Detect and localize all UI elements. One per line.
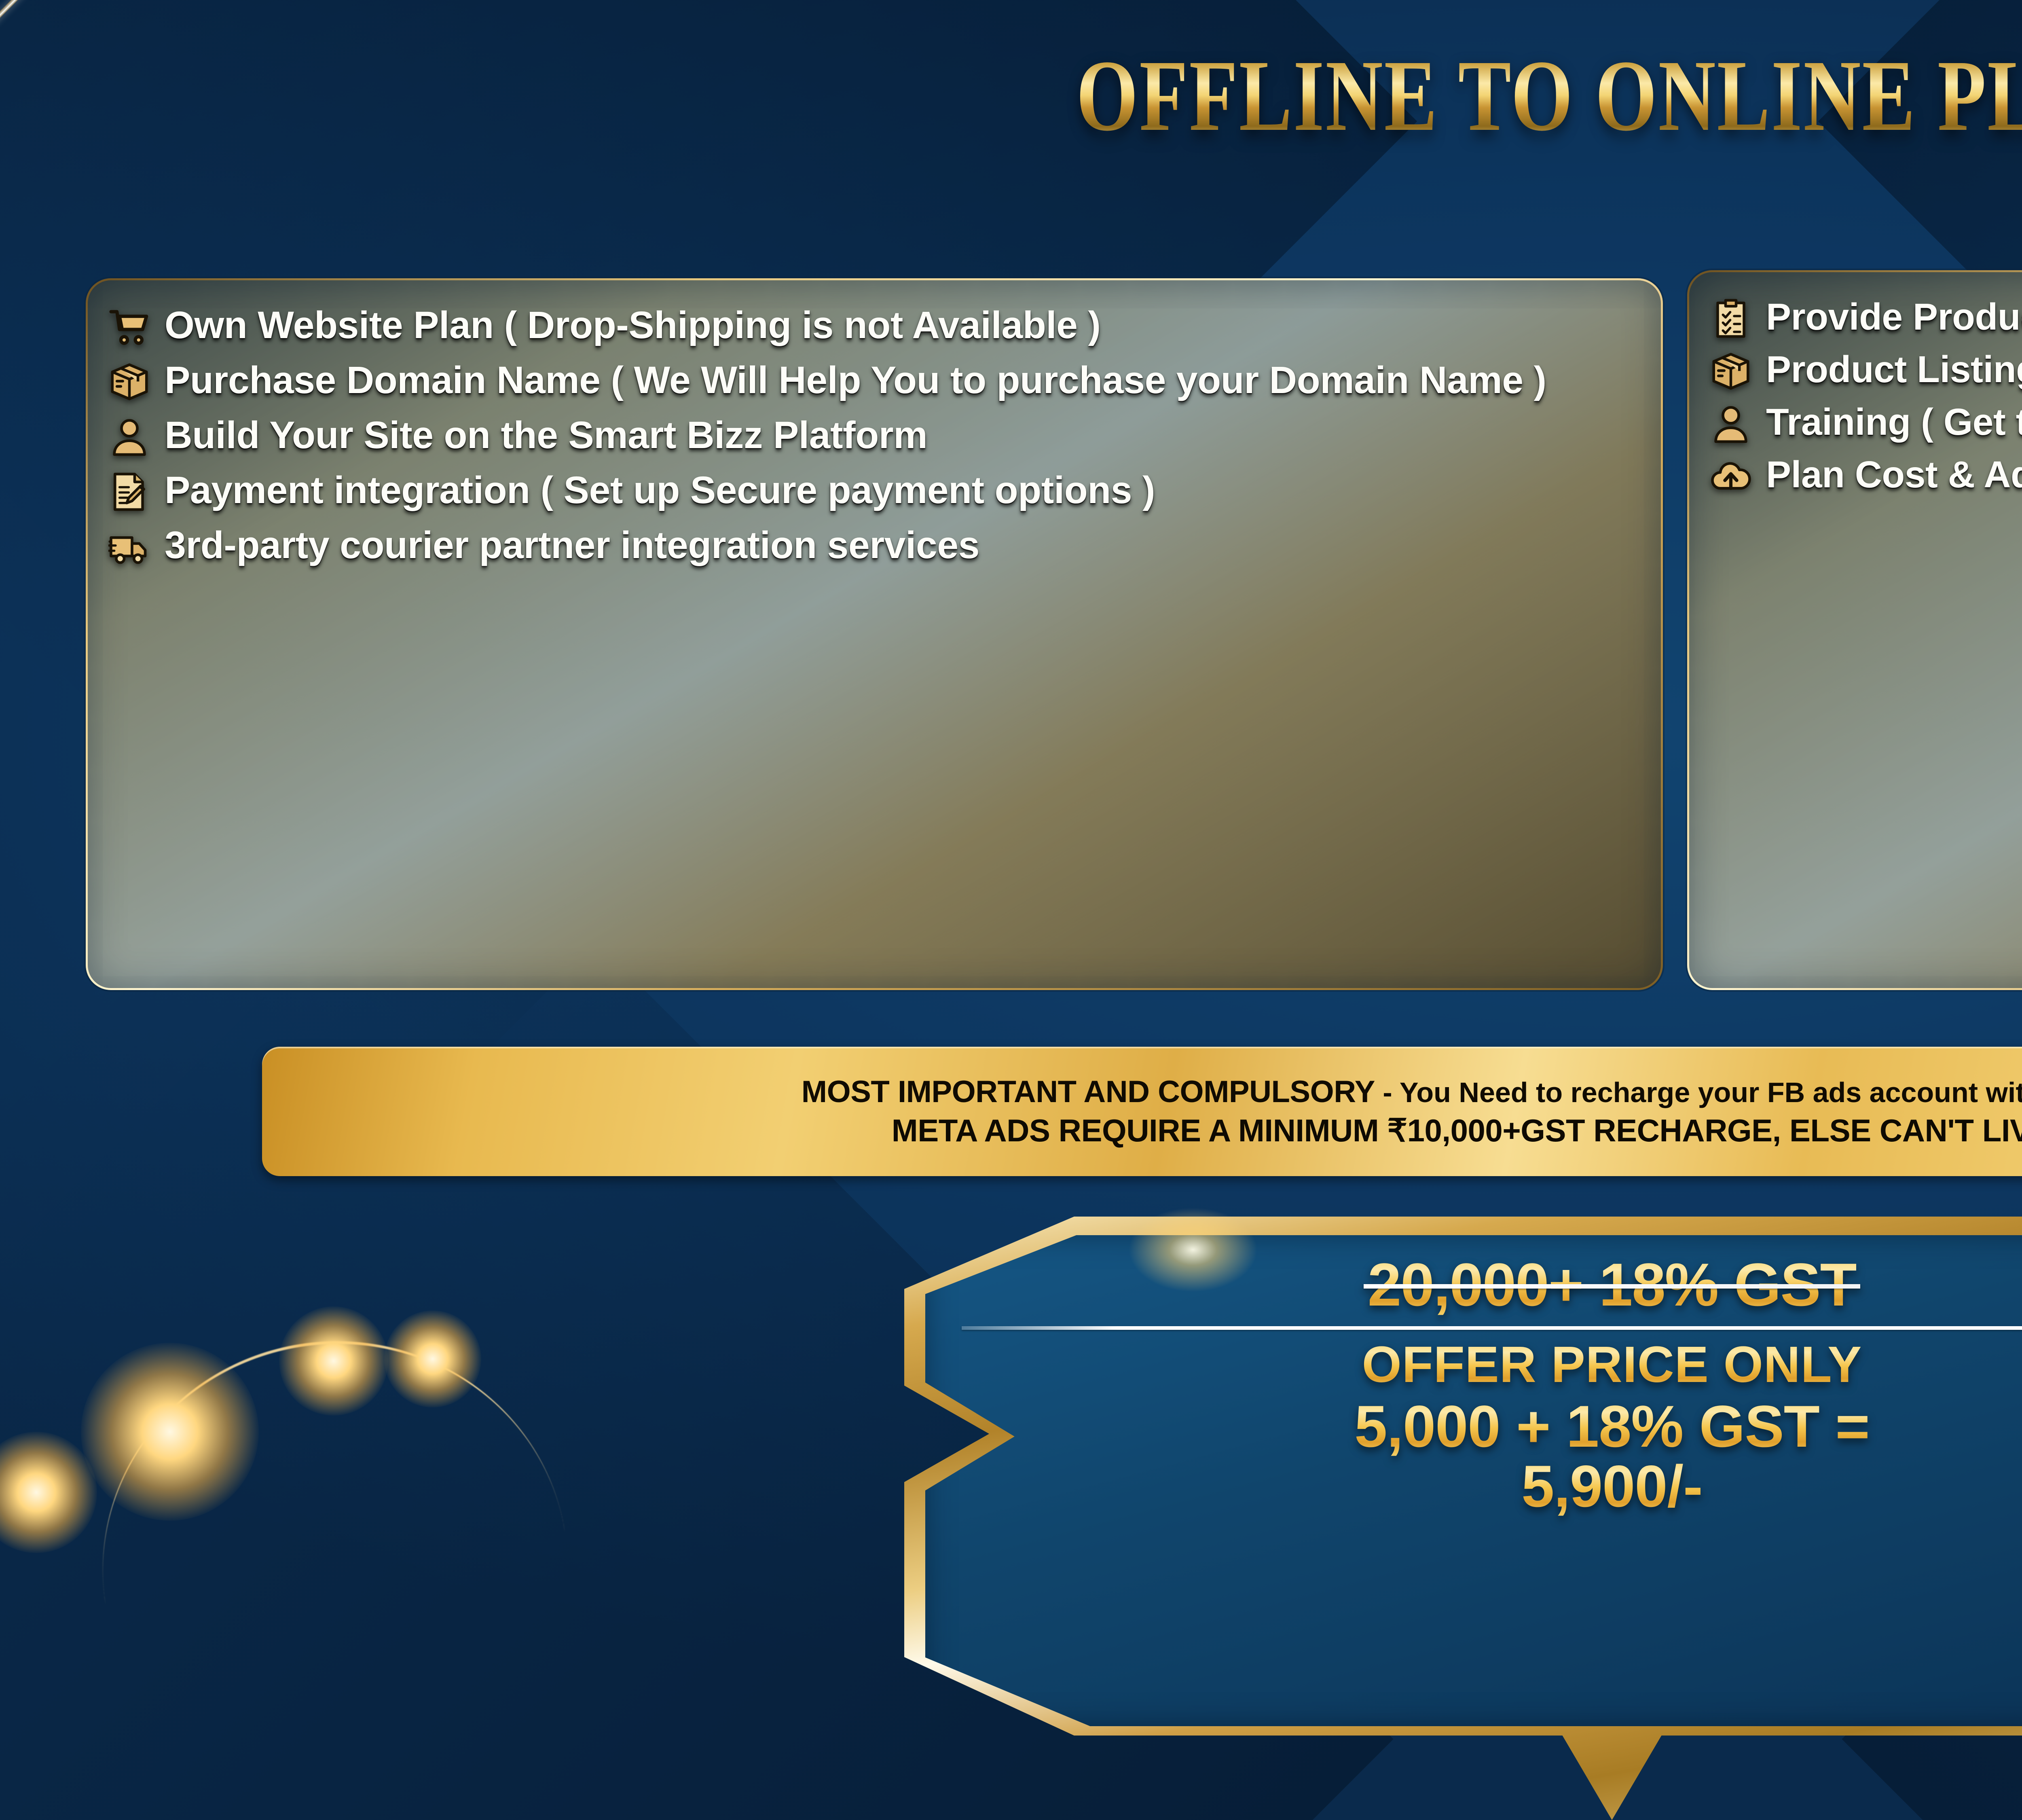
notice-emphasis: MOST IMPORTANT AND COMPULSORY: [802, 1075, 1375, 1109]
offer-label: OFFER PRICE ONLY: [1362, 1339, 1862, 1391]
right-feature-list: Provide Product Info ( Client provides p…: [1709, 295, 2022, 505]
gold-stripes-bottom-left: [0, 1254, 768, 1820]
package-box-icon: [1709, 349, 1753, 394]
list-item-label: Purchase Domain Name ( We Will Help You …: [165, 358, 1546, 403]
offer-price-formula: 5,000 + 18% GST =: [1354, 1397, 1869, 1457]
list-item: Provide Product Info ( Client provides p…: [1709, 295, 2022, 341]
offer-price-total: 5,900/-: [1521, 1456, 1703, 1517]
clipboard-checklist-icon: [1709, 296, 1753, 341]
price-divider: [962, 1326, 2022, 1330]
shopping-cart-icon: [107, 305, 152, 349]
list-item-label: Product Listing ( We will List 20 produc…: [1766, 347, 2022, 392]
list-item-label: 3rd-party courier partner integration se…: [165, 523, 979, 568]
list-item-label: Provide Product Info ( Client provides p…: [1766, 295, 2022, 339]
price-badge-body: 20,000+ 18% GST OFFER PRICE ONLY 5,000 +…: [925, 1235, 2022, 1726]
package-box-icon: [107, 360, 152, 404]
user-person-icon: [107, 415, 152, 459]
notice-detail: - You Need to recharge your FB ads accou…: [1375, 1077, 2022, 1108]
important-notice-banner: MOST IMPORTANT AND COMPULSORY - You Need…: [262, 1047, 2022, 1176]
cloud-upload-icon: [1709, 454, 1753, 499]
list-item-label: Plan Cost & Ads ( 5,000+ tax ( Plan Fee …: [1766, 453, 2022, 497]
notice-line-2: META ADS REQUIRE A MINIMUM ₹10,000+GST R…: [892, 1113, 2022, 1148]
list-item-label: Build Your Site on the Smart Bizz Platfo…: [165, 413, 927, 458]
list-item-label: Training ( Get training for adding more …: [1766, 400, 2022, 444]
list-item: 3rd-party courier partner integration se…: [107, 523, 1645, 569]
delivery-truck-icon: [107, 525, 152, 569]
page-title: OFFLINE TO ONLINE PLAN: [356, 44, 2022, 146]
original-price: 20,000+ 18% GST: [1368, 1254, 1856, 1316]
left-feature-panel: Own Website Plan ( Drop-Shipping is not …: [86, 278, 1663, 990]
left-feature-list: Own Website Plan ( Drop-Shipping is not …: [107, 303, 1645, 569]
right-feature-panel: Provide Product Info ( Client provides p…: [1687, 270, 2022, 990]
strikethrough-line: [1364, 1284, 1860, 1289]
list-item: Own Website Plan ( Drop-Shipping is not …: [107, 303, 1645, 349]
list-item: Build Your Site on the Smart Bizz Platfo…: [107, 413, 1645, 459]
list-item: Training ( Get training for adding more …: [1709, 400, 2022, 446]
list-item: Plan Cost & Ads ( 5,000+ tax ( Plan Fee …: [1709, 453, 2022, 499]
notice-line-1: MOST IMPORTANT AND COMPULSORY - You Need…: [802, 1075, 2022, 1109]
list-item: Product Listing ( We will List 20 produc…: [1709, 347, 2022, 394]
user-person-icon: [1709, 402, 1753, 446]
list-item-label: Payment integration ( Set up Secure paym…: [165, 468, 1155, 513]
list-item-label: Own Website Plan ( Drop-Shipping is not …: [165, 303, 1100, 348]
price-badge: 20,000+ 18% GST OFFER PRICE ONLY 5,000 +…: [904, 1217, 2022, 1820]
memo-pencil-icon: [107, 470, 152, 514]
list-item: Purchase Domain Name ( We Will Help You …: [107, 358, 1645, 404]
list-item: Payment integration ( Set up Secure paym…: [107, 468, 1645, 514]
